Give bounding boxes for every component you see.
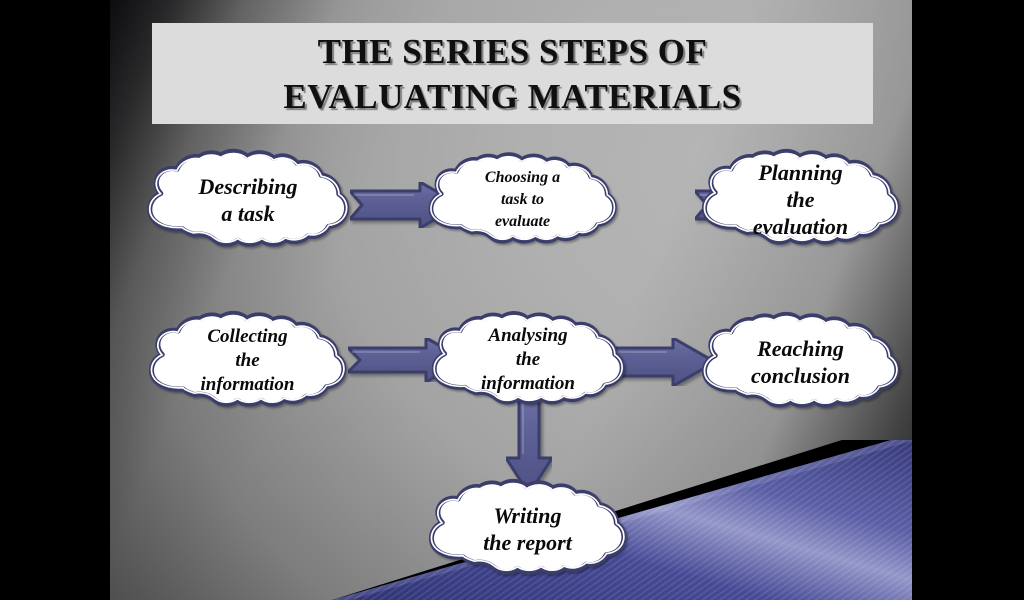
letterbox-left xyxy=(0,0,110,600)
title-line-2: EVALUATING MATERIALS xyxy=(283,74,741,119)
step-cloud-writing-the-report[interactable]: Writing the report xyxy=(420,470,635,588)
step-cloud-choosing-a-task-to-evaluate[interactable]: Choosing a task to evaluate xyxy=(420,142,625,258)
slide-title-box: THE SERIES STEPS OF EVALUATING MATERIALS xyxy=(152,23,873,124)
letterbox-right xyxy=(912,0,1024,600)
step-cloud-collecting-the-information[interactable]: Collecting the information xyxy=(140,300,355,422)
step-cloud-analysing-the-information[interactable]: Analysing the information xyxy=(423,300,633,420)
step-cloud-planning-the-evaluation[interactable]: Planning the evaluation xyxy=(693,136,908,262)
title-line-1: THE SERIES STEPS OF xyxy=(318,29,708,74)
slide-stage: THE SERIES STEPS OF EVALUATING MATERIALS xyxy=(0,0,1024,600)
step-cloud-describing-a-task[interactable]: Describing a task xyxy=(138,140,358,260)
presentation-slide: THE SERIES STEPS OF EVALUATING MATERIALS xyxy=(110,0,912,600)
step-cloud-reaching-conclusion[interactable]: Reaching conclusion xyxy=(693,304,908,420)
